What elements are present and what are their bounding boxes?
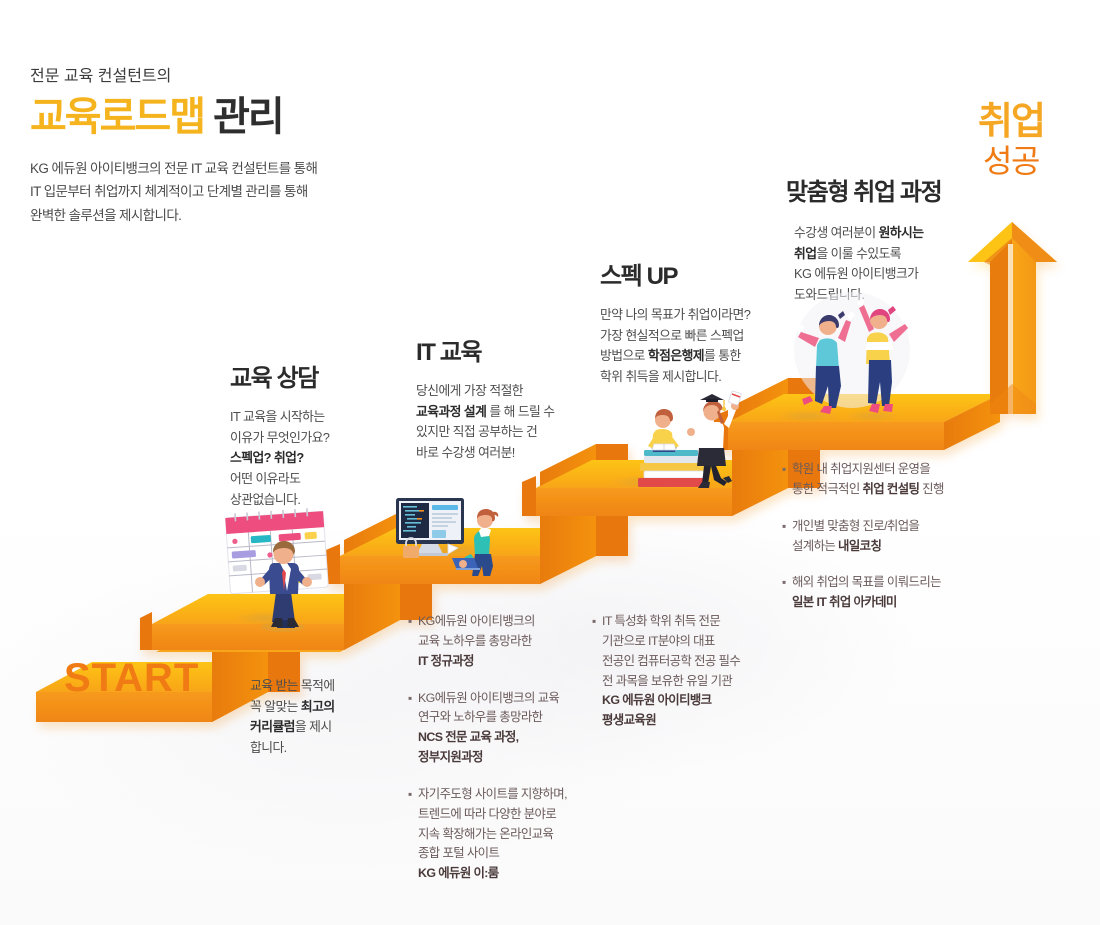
book-stack-icon <box>638 450 708 487</box>
bullet-text: 해외 취업의 목표를 이뤄드리는 일본 IT 취업 아카데미 <box>792 573 997 613</box>
step-1-note-line-2-pre: 꼭 알맞는 <box>250 699 301 714</box>
bullet-line: 해외 취업의 목표를 이뤄드리는 <box>792 573 997 593</box>
bullet-text: IT 특성화 학위 취득 전문 기관으로 IT분야의 대표 전공인 컴퓨터공학 … <box>602 612 782 731</box>
bullet-line-bold: 평생교육원 <box>602 713 656 727</box>
bullet-dot-icon: ▪ <box>592 612 602 731</box>
bullets-step-4: ▪ 학원 내 취업지원센터 운영을 통한 적극적인 취업 컨설팅 진행 ▪ 개인… <box>782 460 997 630</box>
bullet-text: 학원 내 취업지원센터 운영을 통한 적극적인 취업 컨설팅 진행 <box>792 460 997 500</box>
step-1-note-line-3-post: 을 제시 <box>295 719 332 734</box>
bullets-step-2: ▪ KG에듀원 아이티뱅크의 교육 노하우를 총망라한 IT 정규과정 ▪ KG… <box>408 612 588 901</box>
bullet-line: 지속 확장해가는 온라인교육 <box>418 825 588 845</box>
bullet-line: 설계하는 <box>792 539 838 553</box>
list-item: ▪ IT 특성화 학위 취득 전문 기관으로 IT분야의 대표 전공인 컴퓨터공… <box>592 612 782 731</box>
step-2-heading-block: IT 교육 당신에게 가장 적절한 교육과정 설계 를 해 드릴 수 있지만 직… <box>416 332 626 464</box>
bullet-dot-icon: ▪ <box>408 689 418 768</box>
bullet-line-bold: 취업 컨설팅 <box>862 482 919 496</box>
list-item: ▪ 학원 내 취업지원센터 운영을 통한 적극적인 취업 컨설팅 진행 <box>782 460 997 500</box>
header-subtitle-line-2: IT 입문부터 취업까지 체계적이고 단계별 관리를 통해 <box>30 180 460 203</box>
step-3-desc-line-3-bold: 학점은행제 <box>648 348 704 363</box>
step-1-desc-line-1: IT 교육을 시작하는 <box>230 407 410 428</box>
bullet-line: 전 과목을 보유한 유일 기관 <box>602 672 782 692</box>
step-2-desc-line-2-post: 를 해 드릴 수 <box>486 404 554 419</box>
bullet-line: 연구와 노하우를 총망라한 <box>418 708 588 728</box>
businessman-with-calendar-illustration <box>214 500 354 635</box>
step-2-title: IT 교육 <box>416 332 626 367</box>
step-2-desc-line-3: 있지만 직접 공부하는 건 <box>416 422 626 443</box>
step-1-note: 교육 받는 목적에 꼭 알맞는 최고의 커리큘럼을 제시 합니다. <box>250 676 390 759</box>
bullets-step-3: ▪ IT 특성화 학위 취득 전문 기관으로 IT분야의 대표 전공인 컴퓨터공… <box>592 612 782 748</box>
step-1-note-line-4: 합니다. <box>250 738 390 759</box>
bullet-text: 개인별 맞춤형 진로/취업을 설계하는 내일코칭 <box>792 517 997 557</box>
goal-label-line-1: 취업 <box>978 103 1044 141</box>
list-item: ▪ 해외 취업의 목표를 이뤄드리는 일본 IT 취업 아카데미 <box>782 573 997 613</box>
step-1-desc-line-2: 이유가 무엇인가요? <box>230 428 410 449</box>
bullet-line: 학원 내 취업지원센터 운영을 <box>792 460 997 480</box>
step-4-heading-block: 맞춤형 취업 과정 수강생 여러분이 원하시는 취업을 이룰 수있도록 KG 에… <box>786 172 1006 306</box>
step-1-note-line-1: 교육 받는 목적에 <box>250 676 390 697</box>
step-3-desc-line-3-post: 를 통한 <box>704 348 741 363</box>
step-1-heading-block: 교육 상담 IT 교육을 시작하는 이유가 무엇인가요? 스펙업? 취업? 어떤… <box>230 358 410 511</box>
infographic-canvas: 전문 교육 컨설턴트의 교육로드맵 관리 KG 에듀원 아이티뱅크의 전문 IT… <box>0 0 1100 925</box>
bullet-line: 진행 <box>919 482 943 496</box>
step-4-title: 맞춤형 취업 과정 <box>786 172 1006 207</box>
bullet-line-bold: 내일코칭 <box>838 539 881 553</box>
bullet-dot-icon: ▪ <box>782 460 792 500</box>
page-header: 전문 교육 컨설턴트의 교육로드맵 관리 KG 에듀원 아이티뱅크의 전문 IT… <box>30 62 460 227</box>
page-title: 교육로드맵 관리 <box>30 96 460 139</box>
bullet-line-bold: KG 에듀원 이:룸 <box>418 866 499 880</box>
step-4-desc-line-2-post: 을 이룰 수있도록 <box>816 246 901 261</box>
bullet-dot-icon: ▪ <box>782 517 792 557</box>
bullet-line: 전공인 컴퓨터공학 전공 필수 <box>602 652 782 672</box>
bullet-dot-icon: ▪ <box>408 612 418 672</box>
bullet-line: IT 특성화 학위 취득 전문 <box>602 612 782 632</box>
step-1-title: 교육 상담 <box>230 358 410 393</box>
start-label: START <box>64 656 199 701</box>
step-1-note-line-3-bold: 커리큘럼 <box>250 719 295 734</box>
bullet-line: 기관으로 IT분야의 대표 <box>602 632 782 652</box>
seated-reader-figure <box>648 409 679 452</box>
step-1-note-block: 교육 받는 목적에 꼭 알맞는 최고의 커리큘럼을 제시 합니다. <box>250 676 390 759</box>
list-item: ▪ 자기주도형 사이트를 지향하며, 트렌드에 따라 다양한 분야로 지속 확장… <box>408 785 588 884</box>
header-kicker: 전문 교육 컨설턴트의 <box>30 62 460 86</box>
step-1-note-line-2-bold: 최고의 <box>301 699 335 714</box>
bullet-text: KG에듀원 아이티뱅크의 교육 연구와 노하우를 총망라한 NCS 전문 교육 … <box>418 689 588 768</box>
step-4-desc-line-3: KG 에듀원 아이티뱅크가 <box>794 264 1006 285</box>
list-item: ▪ KG에듀원 아이티뱅크의 교육 노하우를 총망라한 IT 정규과정 <box>408 612 588 672</box>
graduate-and-reader-on-books-illustration <box>618 388 763 493</box>
page-title-rest: 관리 <box>204 95 283 139</box>
list-item: ▪ 개인별 맞춤형 진로/취업을 설계하는 내일코칭 <box>782 517 997 557</box>
page-title-highlight: 교육로드맵 <box>30 95 204 139</box>
bullet-text: KG에듀원 아이티뱅크의 교육 노하우를 총망라한 IT 정규과정 <box>418 612 588 672</box>
bullet-line: 종합 포털 사이트 <box>418 844 588 864</box>
step-1-desc-line-4: 어떤 이유라도 <box>230 469 410 490</box>
bullet-line: KG에듀원 아이티뱅크의 교육 <box>418 689 588 709</box>
step-1-desc-line-3: 스펙업? 취업? <box>230 450 304 465</box>
bullet-line: 트렌드에 따라 다양한 분야로 <box>418 805 588 825</box>
bullet-dot-icon: ▪ <box>782 573 792 613</box>
step-2-desc-line-2-bold: 교육과정 설계 <box>416 404 486 419</box>
stair-riser-3 <box>540 444 628 584</box>
step-4-desc-line-1-pre: 수강생 여러분이 <box>794 225 879 240</box>
bullet-line: KG에듀원 아이티뱅크의 <box>418 612 588 632</box>
bullet-line-bold: IT 정규과정 <box>418 654 474 668</box>
bullet-line-bold: NCS 전문 교육 과정, <box>418 730 519 744</box>
two-jumping-celebrating-people-illustration <box>786 288 926 418</box>
bullet-text: 자기주도형 사이트를 지향하며, 트렌드에 따라 다양한 분야로 지속 확장해가… <box>418 785 588 884</box>
step-4-desc-line-2-bold: 취업 <box>794 246 816 261</box>
step-1-description: IT 교육을 시작하는 이유가 무엇인가요? 스펙업? 취업? 어떤 이유라도 … <box>230 407 410 511</box>
goal-label: 취업 성공 <box>978 103 1044 177</box>
bullet-line-bold: 일본 IT 취업 아카데미 <box>792 595 897 609</box>
step-2-desc-line-4: 바로 수강생 여러분! <box>416 443 626 464</box>
step-2-description: 당신에게 가장 적절한 교육과정 설계 를 해 드릴 수 있지만 직접 공부하는… <box>416 381 626 464</box>
bullet-line-bold: 정부지원과정 <box>418 750 483 764</box>
bullet-line: 교육 노하우를 총망라한 <box>418 632 588 652</box>
step-2-desc-line-1: 당신에게 가장 적절한 <box>416 381 626 402</box>
header-subtitle: KG 에듀원 아이티뱅크의 전문 IT 교육 컨설턴트를 통해 IT 입문부터 … <box>30 157 460 227</box>
step-3-desc-line-3-pre: 방법으로 <box>600 348 648 363</box>
step-4-desc-line-1-bold: 원하시는 <box>879 225 924 240</box>
bullet-line: 통한 적극적인 <box>792 482 862 496</box>
woman-with-laptop-and-monitor-illustration <box>386 496 516 576</box>
header-subtitle-line-3: 완벽한 솔루션을 제시합니다. <box>30 204 460 227</box>
bullet-line: 자기주도형 사이트를 지향하며, <box>418 785 588 805</box>
bullet-line-bold: KG 에듀원 아이티뱅크 <box>602 693 711 707</box>
bullet-line: 개인별 맞춤형 진로/취업을 <box>792 517 997 537</box>
header-subtitle-line-1: KG 에듀원 아이티뱅크의 전문 IT 교육 컨설턴트를 통해 <box>30 157 460 180</box>
list-item: ▪ KG에듀원 아이티뱅크의 교육 연구와 노하우를 총망라한 NCS 전문 교… <box>408 689 588 768</box>
bullet-dot-icon: ▪ <box>408 785 418 884</box>
